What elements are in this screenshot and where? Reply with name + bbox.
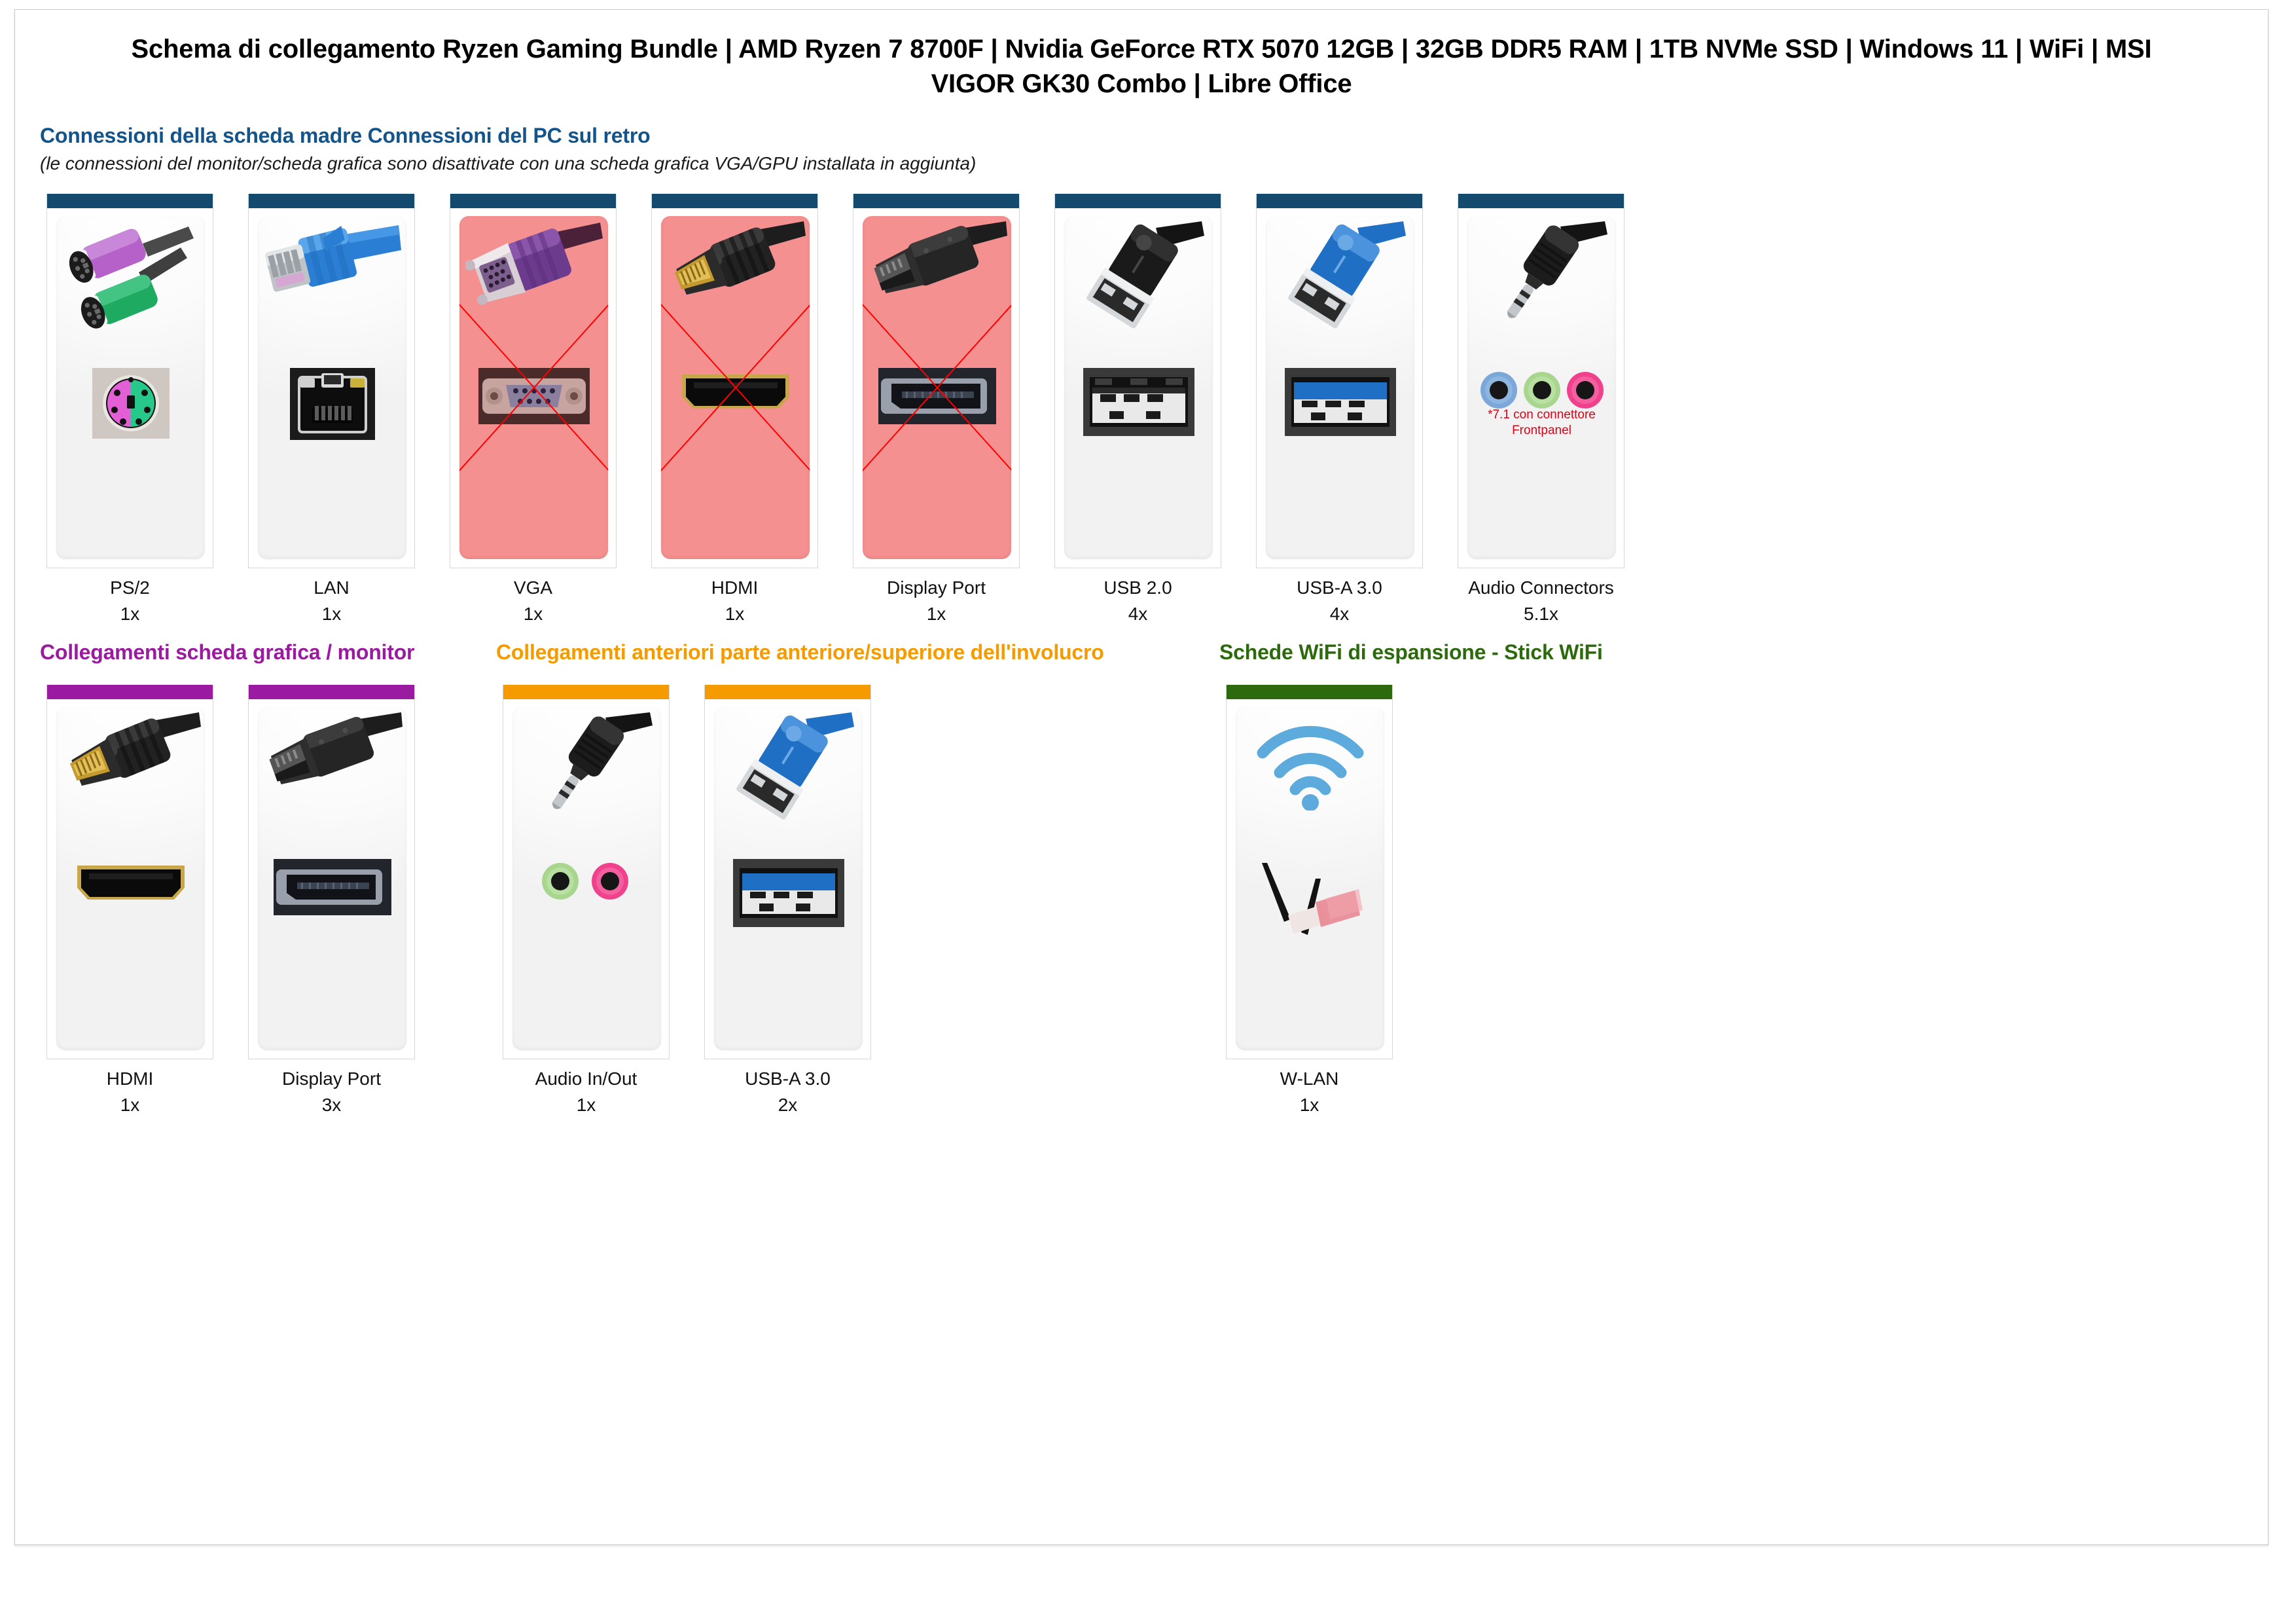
connector-card-body xyxy=(1226,685,1393,1059)
audio-jack-connector-icon-socket xyxy=(512,859,661,944)
card-label: Display Port xyxy=(887,577,986,598)
section-subheading-rear: (le connessioni del monitor/scheda grafi… xyxy=(40,152,976,175)
card-note: *7.1 con connettore Frontpanel xyxy=(1467,407,1616,439)
usb-a-30-connector-icon-plug xyxy=(1266,221,1414,378)
connector-card-body xyxy=(853,194,1020,568)
card-label: USB 2.0 xyxy=(1103,577,1172,598)
rj45-lan-connector-icon-plug xyxy=(258,221,406,378)
card-caption: VGA1x xyxy=(443,576,623,627)
ps2-connector-icon-socket xyxy=(56,368,205,453)
connector-card: HDMI1x xyxy=(645,194,825,627)
displayport-connector-icon-plug xyxy=(258,712,406,869)
hdmi-connector-icon-socket xyxy=(56,859,205,944)
connector-card-body xyxy=(704,685,871,1059)
card-caption: USB-A 3.04x xyxy=(1249,576,1429,627)
hdmi-connector-icon-plug xyxy=(56,712,205,869)
card-inner-panel: *7.1 con connettore Frontpanel xyxy=(1467,216,1616,559)
card-accent-bar xyxy=(249,194,414,208)
card-caption: Display Port1x xyxy=(846,576,1026,627)
connector-card-body xyxy=(248,685,415,1059)
card-caption: HDMI1x xyxy=(40,1067,220,1118)
card-label: VGA xyxy=(514,577,552,598)
card-label: W-LAN xyxy=(1280,1068,1339,1089)
connector-card: PS/21x xyxy=(40,194,220,627)
displayport-connector-icon-socket xyxy=(258,859,406,944)
card-quantity: 4x xyxy=(1048,602,1228,626)
connector-card: Display Port3x xyxy=(242,685,422,1118)
card-label: Audio Connectors xyxy=(1468,577,1614,598)
audio-jack-connector-icon-plug xyxy=(512,712,661,869)
connector-card: Audio In/Out1x xyxy=(496,685,676,1118)
card-caption: LAN1x xyxy=(242,576,422,627)
card-inner-panel xyxy=(56,216,205,559)
rj45-lan-connector-icon-socket xyxy=(258,368,406,453)
card-accent-bar xyxy=(853,194,1019,208)
card-inner-panel xyxy=(512,707,661,1050)
ps2-connector-icon-plug xyxy=(56,221,205,378)
usb-a-20-connector-icon-plug xyxy=(1064,221,1213,378)
connector-card: LAN1x xyxy=(242,194,422,627)
card-caption: USB-A 3.02x xyxy=(698,1067,878,1118)
vga-connector-icon-socket xyxy=(459,368,608,453)
wifi-stick-icon-socket xyxy=(1236,859,1384,944)
section-heading-wifi: Schede WiFi di espansione - Stick WiFi xyxy=(1219,640,1603,665)
gpu-connector-grid: HDMI1x D xyxy=(40,685,422,1118)
connector-card-body xyxy=(248,194,415,568)
card-caption: Audio In/Out1x xyxy=(496,1067,676,1118)
card-inner-panel xyxy=(1266,216,1414,559)
connector-card-body xyxy=(450,194,617,568)
card-inner-panel xyxy=(714,707,863,1050)
connector-card: USB-A 3.02x xyxy=(698,685,878,1118)
card-label: USB-A 3.0 xyxy=(1297,577,1382,598)
connector-card-body xyxy=(651,194,818,568)
card-inner-panel xyxy=(863,216,1011,559)
card-quantity: 4x xyxy=(1249,602,1429,626)
card-quantity: 5.1x xyxy=(1451,602,1631,626)
card-inner-panel xyxy=(459,216,608,559)
card-caption: HDMI1x xyxy=(645,576,825,627)
page-title: Schema di collegamento Ryzen Gaming Bund… xyxy=(94,32,2189,101)
connector-card: USB 2.04x xyxy=(1048,194,1228,627)
connector-card: HDMI1x xyxy=(40,685,220,1118)
connector-card-body xyxy=(503,685,670,1059)
connector-card: VGA1x xyxy=(443,194,623,627)
card-label: LAN xyxy=(314,577,349,598)
connector-card: *7.1 con connettore FrontpanelAudio Conn… xyxy=(1451,194,1631,627)
card-accent-bar xyxy=(1257,194,1422,208)
rear-connector-grid: PS/21x xyxy=(40,194,1631,627)
card-label: HDMI xyxy=(711,577,759,598)
card-quantity: 1x xyxy=(645,602,825,626)
section-heading-gpu: Collegamenti scheda grafica / monitor xyxy=(40,640,414,665)
card-inner-panel xyxy=(1236,707,1384,1050)
card-accent-bar xyxy=(47,685,213,699)
card-quantity: 3x xyxy=(242,1093,422,1117)
section-heading-rear: Connessioni della scheda madre Connessio… xyxy=(40,123,650,149)
card-accent-bar xyxy=(652,194,817,208)
hdmi-connector-icon-socket xyxy=(661,368,810,453)
card-accent-bar xyxy=(1227,685,1392,699)
displayport-connector-icon-socket xyxy=(863,368,1011,453)
card-quantity: 1x xyxy=(496,1093,676,1117)
card-caption: Display Port3x xyxy=(242,1067,422,1118)
wifi-connector-grid: W-LAN1x xyxy=(1219,685,1399,1118)
connector-card-body xyxy=(46,685,213,1059)
card-label: Display Port xyxy=(282,1068,381,1089)
card-inner-panel xyxy=(1064,216,1213,559)
wifi-stick-icon-plug xyxy=(1236,712,1384,869)
usb-a-30-connector-icon-socket xyxy=(714,859,863,944)
usb-a-30-connector-icon-socket xyxy=(1266,368,1414,453)
card-caption: W-LAN1x xyxy=(1219,1067,1399,1118)
usb-a-20-connector-icon-socket xyxy=(1064,368,1213,453)
card-caption: USB 2.04x xyxy=(1048,576,1228,627)
displayport-connector-icon-plug xyxy=(863,221,1011,378)
card-label: Audio In/Out xyxy=(535,1068,637,1089)
vga-connector-icon-plug xyxy=(459,221,608,378)
card-caption: PS/21x xyxy=(40,576,220,627)
card-quantity: 1x xyxy=(242,602,422,626)
card-accent-bar xyxy=(705,685,870,699)
connector-card-body xyxy=(1054,194,1221,568)
card-quantity: 1x xyxy=(1219,1093,1399,1117)
card-accent-bar xyxy=(503,685,669,699)
connector-card: W-LAN1x xyxy=(1219,685,1399,1118)
card-accent-bar xyxy=(249,685,414,699)
card-accent-bar xyxy=(1055,194,1221,208)
usb-a-30-connector-icon-plug xyxy=(714,712,863,869)
card-inner-panel xyxy=(661,216,810,559)
card-quantity: 1x xyxy=(40,1093,220,1117)
card-label: HDMI xyxy=(107,1068,154,1089)
card-inner-panel xyxy=(56,707,205,1050)
document-page: Schema di collegamento Ryzen Gaming Bund… xyxy=(14,9,2269,1545)
connector-card-body xyxy=(1256,194,1423,568)
section-heading-front: Collegamenti anteriori parte anteriore/s… xyxy=(496,640,1104,665)
card-quantity: 1x xyxy=(846,602,1026,626)
front-connector-grid: Audio In/Out1x USB-A 3.02x xyxy=(496,685,878,1118)
connector-card-body: *7.1 con connettore Frontpanel xyxy=(1458,194,1624,568)
card-quantity: 1x xyxy=(443,602,623,626)
card-inner-panel xyxy=(258,216,406,559)
card-label: USB-A 3.0 xyxy=(745,1068,831,1089)
hdmi-connector-icon-plug xyxy=(661,221,810,378)
connector-card-body xyxy=(46,194,213,568)
card-caption: Audio Connectors5.1x xyxy=(1451,576,1631,627)
card-label: PS/2 xyxy=(110,577,150,598)
card-inner-panel xyxy=(258,707,406,1050)
connector-card: USB-A 3.04x xyxy=(1249,194,1429,627)
audio-jack-connector-icon-plug xyxy=(1467,221,1616,378)
card-quantity: 2x xyxy=(698,1093,878,1117)
card-accent-bar xyxy=(47,194,213,208)
connector-card: Display Port1x xyxy=(846,194,1026,627)
card-accent-bar xyxy=(1458,194,1624,208)
card-quantity: 1x xyxy=(40,602,220,626)
card-accent-bar xyxy=(450,194,616,208)
